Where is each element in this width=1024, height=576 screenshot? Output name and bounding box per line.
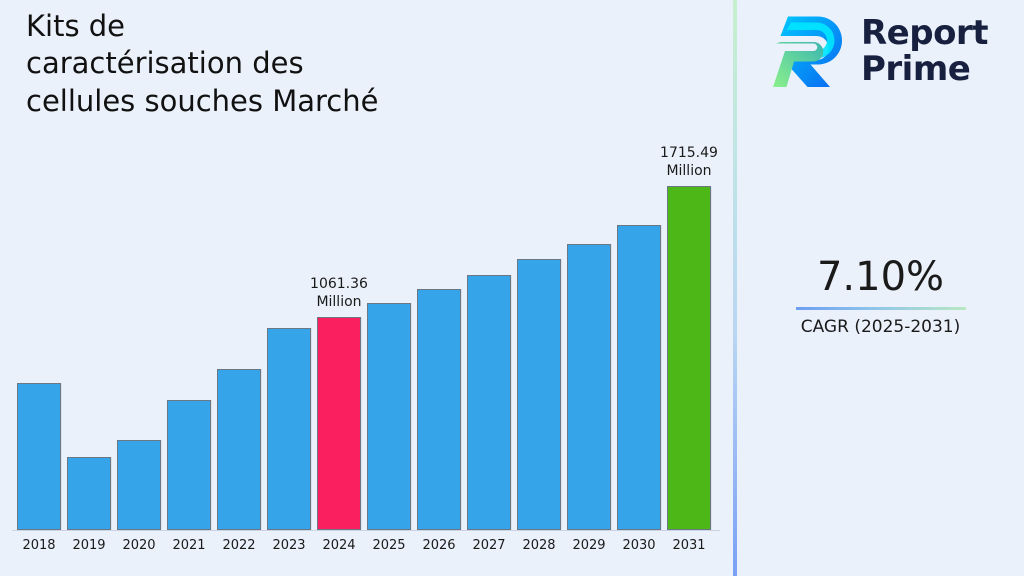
plot-area: 2018201920202021202220231061.36 Million2… xyxy=(0,0,733,576)
bar-value-label-2031: 1715.49 Million xyxy=(660,145,718,180)
bar-rect-2026 xyxy=(417,289,461,530)
bar-2018 xyxy=(17,383,61,530)
x-tick-2027: 2027 xyxy=(467,538,511,553)
brand-logo: Report Prime xyxy=(771,12,988,90)
bar-2024: 1061.36 Million xyxy=(317,317,361,530)
bar-rect-2027 xyxy=(467,275,511,530)
x-tick-2021: 2021 xyxy=(167,538,211,553)
x-tick-2024: 2024 xyxy=(317,538,361,553)
bar-rect-2031 xyxy=(667,186,711,530)
report-prime-logo-icon xyxy=(771,12,847,90)
cagr-divider-rule xyxy=(796,307,966,310)
bar-rect-2022 xyxy=(217,369,261,530)
x-tick-2028: 2028 xyxy=(517,538,561,553)
bar-2022 xyxy=(217,369,261,530)
side-panel: Report Prime 7.10% CAGR (2025-2031) xyxy=(737,0,1024,576)
x-tick-2031: 2031 xyxy=(667,538,711,553)
brand-name: Report Prime xyxy=(861,15,988,87)
chart-panel: Kits de caractérisation des cellules sou… xyxy=(0,0,733,576)
x-tick-2030: 2030 xyxy=(617,538,661,553)
bar-2021 xyxy=(167,400,211,530)
cagr-block: 7.10% CAGR (2025-2031) xyxy=(737,255,1024,337)
x-tick-2026: 2026 xyxy=(417,538,461,553)
bar-2023 xyxy=(267,328,311,530)
bar-rect-2024 xyxy=(317,317,361,530)
bar-2030 xyxy=(617,225,661,530)
bar-rect-2020 xyxy=(117,440,161,530)
bar-rect-2029 xyxy=(567,244,611,530)
bar-2029 xyxy=(567,244,611,530)
x-tick-2019: 2019 xyxy=(67,538,111,553)
x-tick-2029: 2029 xyxy=(567,538,611,553)
bar-2025 xyxy=(367,303,411,530)
x-tick-2023: 2023 xyxy=(267,538,311,553)
x-axis-line xyxy=(12,530,720,531)
x-tick-2022: 2022 xyxy=(217,538,261,553)
bar-rect-2019 xyxy=(67,457,111,530)
bar-rect-2018 xyxy=(17,383,61,530)
bar-2027 xyxy=(467,275,511,530)
bar-2020 xyxy=(117,440,161,530)
bar-value-label-2024: 1061.36 Million xyxy=(310,276,368,311)
bar-2028 xyxy=(517,259,561,530)
x-tick-2018: 2018 xyxy=(17,538,61,553)
bar-rect-2023 xyxy=(267,328,311,530)
x-tick-2020: 2020 xyxy=(117,538,161,553)
bar-rect-2030 xyxy=(617,225,661,530)
bar-rect-2021 xyxy=(167,400,211,530)
x-tick-2025: 2025 xyxy=(367,538,411,553)
bar-2019 xyxy=(67,457,111,530)
bar-2031: 1715.49 Million xyxy=(667,186,711,530)
cagr-label: CAGR (2025-2031) xyxy=(737,317,1024,337)
bar-rect-2028 xyxy=(517,259,561,530)
bar-2026 xyxy=(417,289,461,530)
cagr-value: 7.10% xyxy=(737,255,1024,299)
bar-rect-2025 xyxy=(367,303,411,530)
